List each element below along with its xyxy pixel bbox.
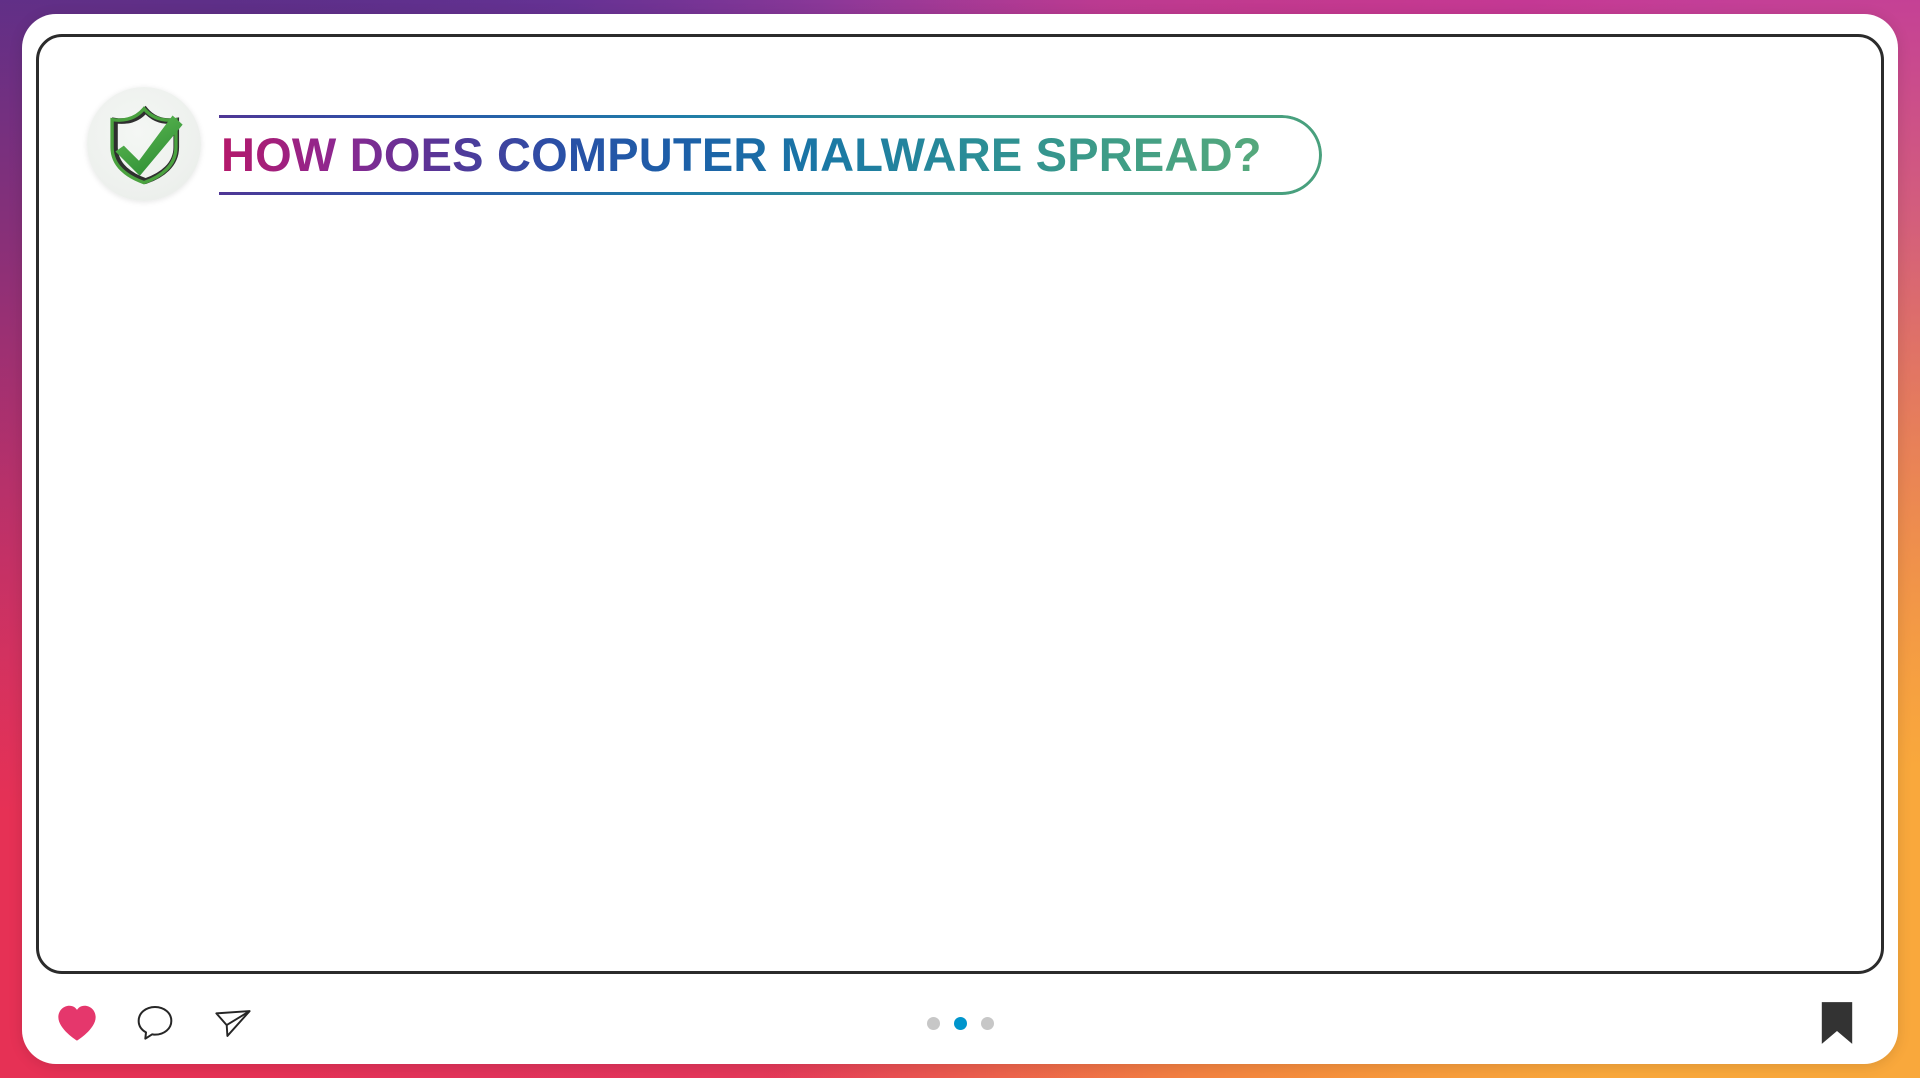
page-title: HOW DOES COMPUTER MALWARE SPREAD? bbox=[221, 115, 1262, 195]
pagination-dot-2[interactable] bbox=[954, 1017, 967, 1030]
shield-check-badge bbox=[87, 87, 201, 201]
bookmark-icon bbox=[1818, 1000, 1856, 1046]
carousel-pagination[interactable] bbox=[22, 1017, 1898, 1030]
instagram-post-screen: HOW DOES COMPUTER MALWARE SPREAD? bbox=[0, 0, 1920, 1078]
action-bar bbox=[22, 982, 1898, 1064]
pagination-dot-1[interactable] bbox=[927, 1017, 940, 1030]
action-bar-right-group bbox=[1812, 998, 1862, 1048]
carousel-slide: HOW DOES COMPUTER MALWARE SPREAD? bbox=[36, 34, 1884, 974]
pagination-dot-3[interactable] bbox=[981, 1017, 994, 1030]
save-button[interactable] bbox=[1812, 998, 1862, 1048]
post-card: HOW DOES COMPUTER MALWARE SPREAD? bbox=[22, 14, 1898, 1064]
shield-check-icon bbox=[102, 102, 186, 186]
